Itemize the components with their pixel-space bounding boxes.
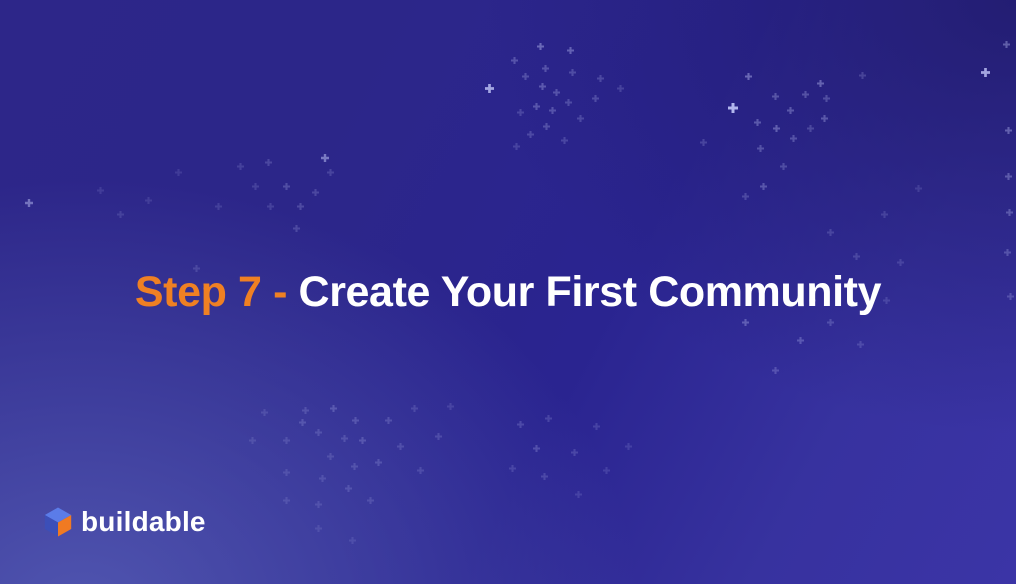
- sparkle-plus-icon: [742, 319, 749, 326]
- sparkle-plus-icon: [742, 193, 749, 200]
- sparkle-plus-icon: [915, 185, 922, 192]
- sparkle-plus-icon: [745, 73, 752, 80]
- sparkle-plus-icon: [527, 131, 534, 138]
- sparkle-plus-icon: [117, 211, 124, 218]
- sparkle-plus-icon: [575, 491, 582, 498]
- sparkle-plus-icon: [827, 319, 834, 326]
- sparkle-plus-icon: [561, 137, 568, 144]
- sparkle-plus-icon: [175, 169, 182, 176]
- sparkle-plus-icon: [1005, 173, 1012, 180]
- sparkle-plus-icon: [533, 445, 540, 452]
- sparkle-plus-icon: [315, 525, 322, 532]
- sparkle-plus-icon: [823, 95, 830, 102]
- sparkle-plus-icon: [517, 421, 524, 428]
- sparkle-plus-icon: [385, 417, 392, 424]
- sparkle-plus-icon: [543, 123, 550, 130]
- sparkle-plus-icon: [315, 429, 322, 436]
- sparkle-plus-icon: [315, 501, 322, 508]
- sparkle-plus-icon: [617, 85, 624, 92]
- sparkle-plus-icon: [625, 443, 632, 450]
- sparkle-plus-icon: [859, 72, 866, 79]
- sparkle-plus-icon: [261, 409, 268, 416]
- sparkle-plus-icon: [511, 57, 518, 64]
- sparkle-plus-icon: [485, 84, 494, 93]
- sparkle-plus-icon: [773, 125, 780, 132]
- sparkle-plus-icon: [817, 80, 824, 87]
- sparkle-plus-icon: [522, 73, 529, 80]
- sparkle-plus-icon: [603, 467, 610, 474]
- sparkle-plus-icon: [802, 91, 809, 98]
- sparkle-plus-icon: [857, 341, 864, 348]
- sparkle-plus-icon: [787, 107, 794, 114]
- sparkle-plus-icon: [571, 449, 578, 456]
- sparkle-plus-icon: [509, 465, 516, 472]
- page-title: Step 7 - Create Your First Community: [0, 268, 1016, 317]
- sparkle-plus-icon: [252, 183, 259, 190]
- cube-icon: [44, 507, 72, 537]
- sparkle-plus-icon: [881, 211, 888, 218]
- brand-wordmark: buildable: [81, 506, 206, 538]
- sparkle-plus-icon: [553, 89, 560, 96]
- sparkle-plus-icon: [821, 115, 828, 122]
- sparkle-plus-icon: [754, 119, 761, 126]
- sparkle-plus-icon: [567, 47, 574, 54]
- sparkle-plus-icon: [283, 469, 290, 476]
- title-block: Step 7 - Create Your First Community: [0, 268, 1016, 317]
- sparkle-plus-icon: [853, 253, 860, 260]
- sparkle-plus-icon: [1004, 249, 1011, 256]
- sparkle-plus-icon: [375, 459, 382, 466]
- sparkle-plus-icon: [297, 203, 304, 210]
- sparkle-plus-icon: [97, 187, 104, 194]
- slide-canvas: Step 7 - Create Your First Community bui…: [0, 0, 1016, 584]
- sparkle-plus-icon: [772, 367, 779, 374]
- sparkle-plus-icon: [249, 437, 256, 444]
- sparkle-plus-icon: [807, 125, 814, 132]
- sparkle-plus-icon: [565, 99, 572, 106]
- sparkle-plus-icon: [351, 463, 358, 470]
- sparkle-plus-icon: [537, 43, 544, 50]
- sparkle-plus-icon: [541, 473, 548, 480]
- sparkle-plus-icon: [283, 497, 290, 504]
- sparkle-plus-icon: [897, 259, 904, 266]
- brand-logo: buildable: [44, 506, 206, 538]
- sparkle-plus-icon: [549, 107, 556, 114]
- sparkle-plus-icon: [330, 405, 337, 412]
- sparkle-plus-icon: [341, 435, 348, 442]
- sparkle-plus-icon: [757, 145, 764, 152]
- sparkle-plus-icon: [321, 154, 329, 162]
- sparkle-plus-icon: [237, 163, 244, 170]
- sparkle-plus-icon: [597, 75, 604, 82]
- sparkle-plus-icon: [345, 485, 352, 492]
- sparkle-plus-icon: [790, 135, 797, 142]
- sparkle-plus-icon: [533, 103, 540, 110]
- sparkle-plus-icon: [299, 419, 306, 426]
- sparkle-plus-icon: [447, 403, 454, 410]
- sparkle-plus-icon: [797, 337, 804, 344]
- sparkle-plus-icon: [569, 69, 576, 76]
- sparkle-plus-icon: [319, 475, 326, 482]
- sparkle-plus-icon: [827, 229, 834, 236]
- sparkle-plus-icon: [145, 197, 152, 204]
- sparkle-plus-icon: [539, 83, 546, 90]
- sparkle-plus-icon: [513, 143, 520, 150]
- sparkle-plus-icon: [265, 159, 272, 166]
- sparkle-plus-icon: [312, 189, 319, 196]
- sparkle-plus-icon: [267, 203, 274, 210]
- sparkle-plus-icon: [545, 415, 552, 422]
- sparkle-plus-icon: [577, 115, 584, 122]
- sparkle-plus-icon: [517, 109, 524, 116]
- sparkle-plus-icon: [435, 433, 442, 440]
- sparkle-plus-icon: [772, 93, 779, 100]
- sparkle-plus-icon: [542, 65, 549, 72]
- sparkle-plus-icon: [1003, 41, 1010, 48]
- sparkle-plus-icon: [411, 405, 418, 412]
- sparkle-plus-icon: [1006, 209, 1013, 216]
- sparkle-plus-icon: [283, 437, 290, 444]
- sparkle-plus-icon: [593, 423, 600, 430]
- sparkle-plus-icon: [700, 139, 707, 146]
- sparkle-plus-icon: [359, 437, 366, 444]
- sparkle-plus-icon: [417, 467, 424, 474]
- title-step-label: Step 7 -: [135, 268, 299, 316]
- sparkle-plus-icon: [327, 453, 334, 460]
- sparkle-plus-icon: [367, 497, 374, 504]
- sparkle-plus-icon: [981, 68, 990, 77]
- sparkle-plus-icon: [215, 203, 222, 210]
- sparkle-plus-icon: [349, 537, 356, 544]
- sparkle-plus-icon: [283, 183, 290, 190]
- sparkle-plus-icon: [592, 95, 599, 102]
- sparkle-plus-icon: [728, 103, 738, 113]
- sparkle-plus-icon: [760, 183, 767, 190]
- sparkle-plus-icon: [780, 163, 787, 170]
- sparkle-plus-icon: [327, 169, 334, 176]
- sparkle-plus-icon: [352, 417, 359, 424]
- sparkle-plus-icon: [397, 443, 404, 450]
- sparkle-plus-icon: [293, 225, 300, 232]
- title-main-text: Create Your First Community: [299, 268, 882, 316]
- sparkle-plus-icon: [302, 407, 309, 414]
- sparkle-plus-icon: [25, 199, 33, 207]
- sparkle-plus-icon: [1005, 127, 1012, 134]
